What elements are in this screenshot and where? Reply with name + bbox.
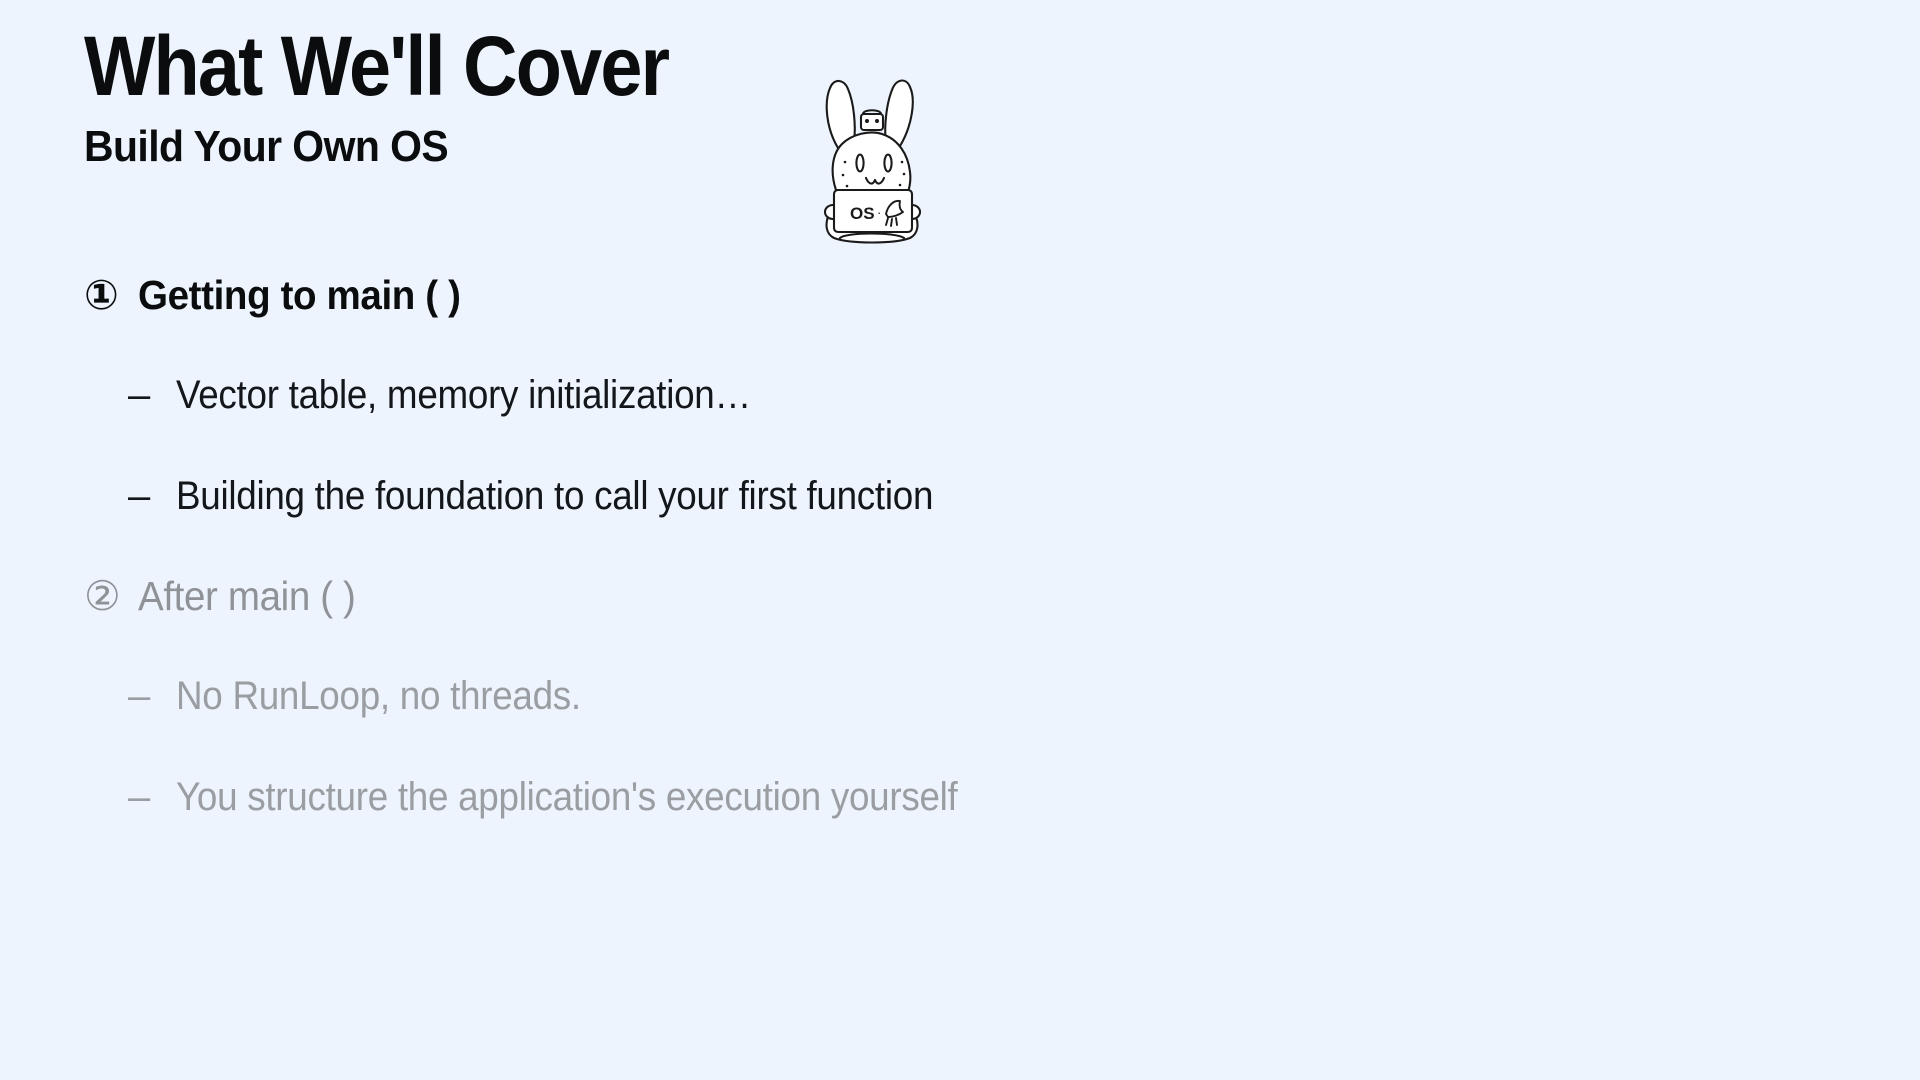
list-item-label: No RunLoop, no threads. <box>176 674 581 719</box>
list-item: – Vector table, memory initialization… <box>84 373 1784 418</box>
list-item-label: Building the foundation to call your fir… <box>176 474 933 519</box>
list-item: – Building the foundation to call your f… <box>84 474 1784 519</box>
agenda-bullets-2: – No RunLoop, no threads. – You structur… <box>84 674 1784 820</box>
list-item-label: You structure the application's executio… <box>176 775 958 820</box>
list-item: – No RunLoop, no threads. <box>84 674 1784 719</box>
en-dash-bullet-icon: – <box>128 676 176 716</box>
circled-number-1-icon: ① <box>84 275 138 316</box>
bunny-mascot-illustration: OS · <box>800 62 940 247</box>
agenda-bullets-1: – Vector table, memory initialization… –… <box>84 373 1784 519</box>
list-item: – You structure the application's execut… <box>84 775 1784 820</box>
agenda-heading-2-label: After main ( ) <box>138 573 355 620</box>
list-item-label: Vector table, memory initialization… <box>176 373 751 418</box>
agenda-group-getting-to-main: ① Getting to main ( ) – Vector table, me… <box>84 272 1784 519</box>
circled-number-2-icon: ② <box>84 576 138 617</box>
agenda-group-after-main: ② After main ( ) – No RunLoop, no thread… <box>84 573 1784 820</box>
en-dash-bullet-icon: – <box>128 476 176 516</box>
mascot-sign-text: OS <box>850 204 875 223</box>
slide-header: What We'll Cover Build Your Own OS <box>84 24 1184 170</box>
en-dash-bullet-icon: – <box>128 777 176 817</box>
page-subtitle: Build Your Own OS <box>84 124 1107 170</box>
agenda-heading-2[interactable]: ② After main ( ) <box>84 573 1784 620</box>
agenda-list: ① Getting to main ( ) – Vector table, me… <box>84 272 1784 820</box>
agenda-heading-1[interactable]: ① Getting to main ( ) <box>84 272 1784 319</box>
agenda-heading-1-label: Getting to main ( ) <box>138 272 461 319</box>
en-dash-bullet-icon: – <box>128 375 176 415</box>
bunny-mascot-icon: OS · <box>800 62 940 247</box>
presentation-slide: What We'll Cover Build Your Own OS <box>0 0 1920 1080</box>
mascot-sign-separator: · <box>877 205 881 220</box>
